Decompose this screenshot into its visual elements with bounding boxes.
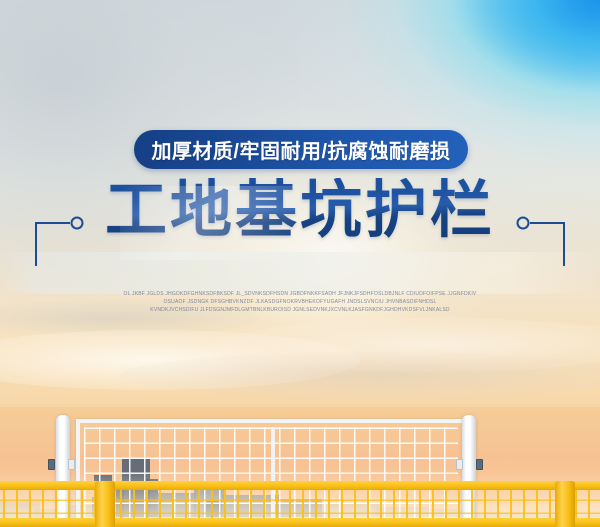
front-fence-post bbox=[95, 481, 115, 527]
product-banner: 加厚材质/牢固耐用/抗腐蚀耐磨损 工地基坑护栏 OL JKBF JGLDS JH… bbox=[0, 0, 600, 527]
filler-text-block: OL JKBF JGLDS JHGOKDFGHNKSDFBKSDF JL_SDV… bbox=[0, 290, 600, 314]
front-fence-bottom-rail bbox=[0, 518, 600, 527]
fence-clamp bbox=[456, 459, 463, 470]
filler-text-line-3: KVNDKJVCHSDIFU JLFDSGNJMFDLGMTBNLKBUROIS… bbox=[0, 306, 600, 314]
page-title: 工地基坑护栏 bbox=[0, 178, 600, 243]
filler-text-line-2: OSUAOF JSDNGK DFSGHBVKNZDF JLKASDGFNOKRV… bbox=[0, 298, 600, 306]
fence-clamp bbox=[476, 459, 483, 470]
front-fence-top-rail bbox=[0, 481, 600, 490]
front-fence-post bbox=[555, 481, 575, 527]
subtitle-pill: 加厚材质/牢固耐用/抗腐蚀耐磨损 bbox=[134, 130, 468, 169]
product-photo-scene bbox=[0, 407, 600, 527]
sky-cyan-core bbox=[420, 0, 600, 120]
front-fence bbox=[0, 481, 600, 527]
filler-text-line-1: OL JKBF JGLDS JHGOKDFGHNKSDFBKSDF JL_SDV… bbox=[0, 290, 600, 298]
subtitle-pill-label: 加厚材质/牢固耐用/抗腐蚀耐磨损 bbox=[151, 135, 450, 164]
fence-clamp bbox=[48, 459, 55, 470]
fence-clamp bbox=[68, 459, 75, 470]
